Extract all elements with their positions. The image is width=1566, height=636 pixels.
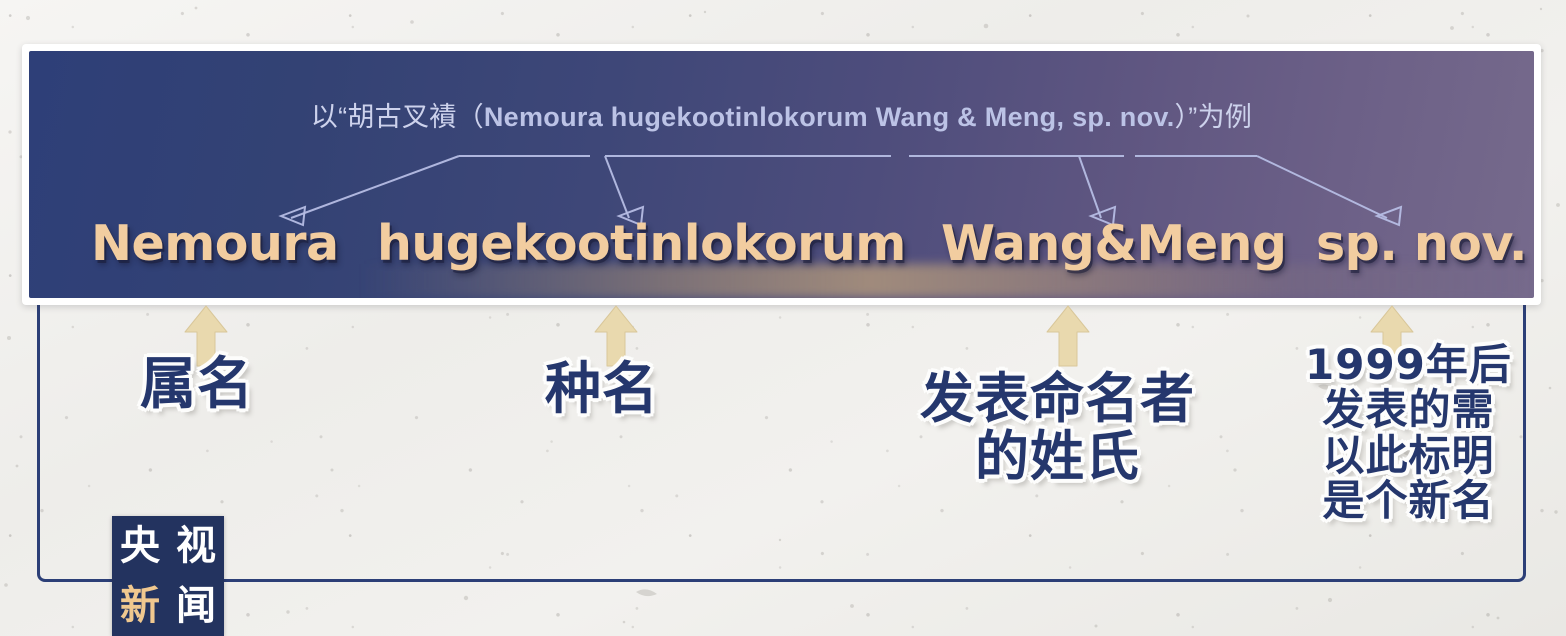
up-arrow-icon-author [1046, 305, 1090, 367]
gold-word-marker: sp. nov. [1316, 201, 1527, 287]
cctv-news-logo: 央 视 新 闻 [112, 516, 224, 636]
logo-char-wen: 闻 [176, 586, 216, 626]
gold-word-species: hugekootinlokorum [377, 201, 906, 287]
logo-char-yang: 央 [120, 526, 160, 566]
title-prefix-cn: 以“胡古叉襀（ [311, 102, 484, 132]
callout-label-new-species-marker: 1999年后 发表的需 以此标明 是个新名 [1305, 342, 1512, 523]
banner-title: 以“胡古叉襀（Nemoura hugekootinlokorum Wang & … [29, 95, 1534, 134]
callout-label-author: 发表命名者 的姓氏 [920, 370, 1195, 487]
gold-word-row: Nemoura hugekootinlokorum Wang&Meng sp. … [29, 201, 1534, 287]
infographic-canvas: 以“胡古叉襀（Nemoura hugekootinlokorum Wang & … [0, 0, 1566, 636]
callout-label-genus: 属名 [140, 355, 254, 415]
banner-shell: 以“胡古叉襀（Nemoura hugekootinlokorum Wang & … [22, 44, 1541, 305]
logo-char-xin: 新 [120, 586, 160, 626]
callout-label-species: 种名 [545, 360, 659, 420]
title-latin-name: Nemoura hugekootinlokorum Wang & Meng, s… [484, 102, 1175, 132]
logo-char-shi: 视 [176, 526, 216, 566]
title-suffix-cn: ）”为例 [1175, 102, 1253, 132]
gold-word-author: Wang&Meng [941, 201, 1287, 287]
gold-word-genus: Nemoura [91, 201, 339, 287]
gradient-banner: 以“胡古叉襀（Nemoura hugekootinlokorum Wang & … [29, 51, 1534, 298]
